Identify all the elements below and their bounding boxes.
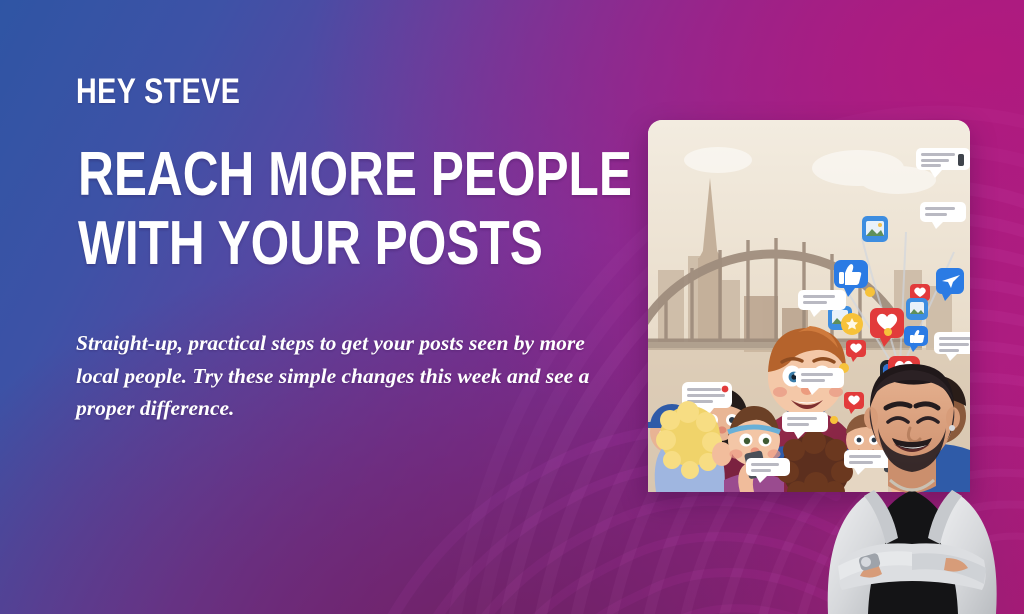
photo-card-icon (862, 216, 888, 242)
star-emoji-icon (865, 287, 875, 297)
photo-card-icon (906, 298, 928, 320)
page-title: REACH MORE PEOPLE WITH YOUR POSTS (78, 145, 521, 273)
headline-line-2: WITH YOUR POSTS (78, 214, 521, 274)
avatar (800, 352, 1024, 614)
star-emoji-icon (884, 328, 892, 336)
earring-icon (949, 425, 955, 431)
promo-poster: HEY STEVE REACH MORE PEOPLE WITH YOUR PO… (0, 0, 1024, 614)
eyebrow-text: HEY STEVE (76, 74, 532, 109)
subcopy-text: Straight-up, practical steps to get your… (76, 327, 616, 425)
copy-block: HEY STEVE REACH MORE PEOPLE WITH YOUR PO… (72, 74, 632, 425)
star-emoji-icon (841, 313, 863, 335)
headline-line-1: REACH MORE PEOPLE (78, 140, 632, 209)
